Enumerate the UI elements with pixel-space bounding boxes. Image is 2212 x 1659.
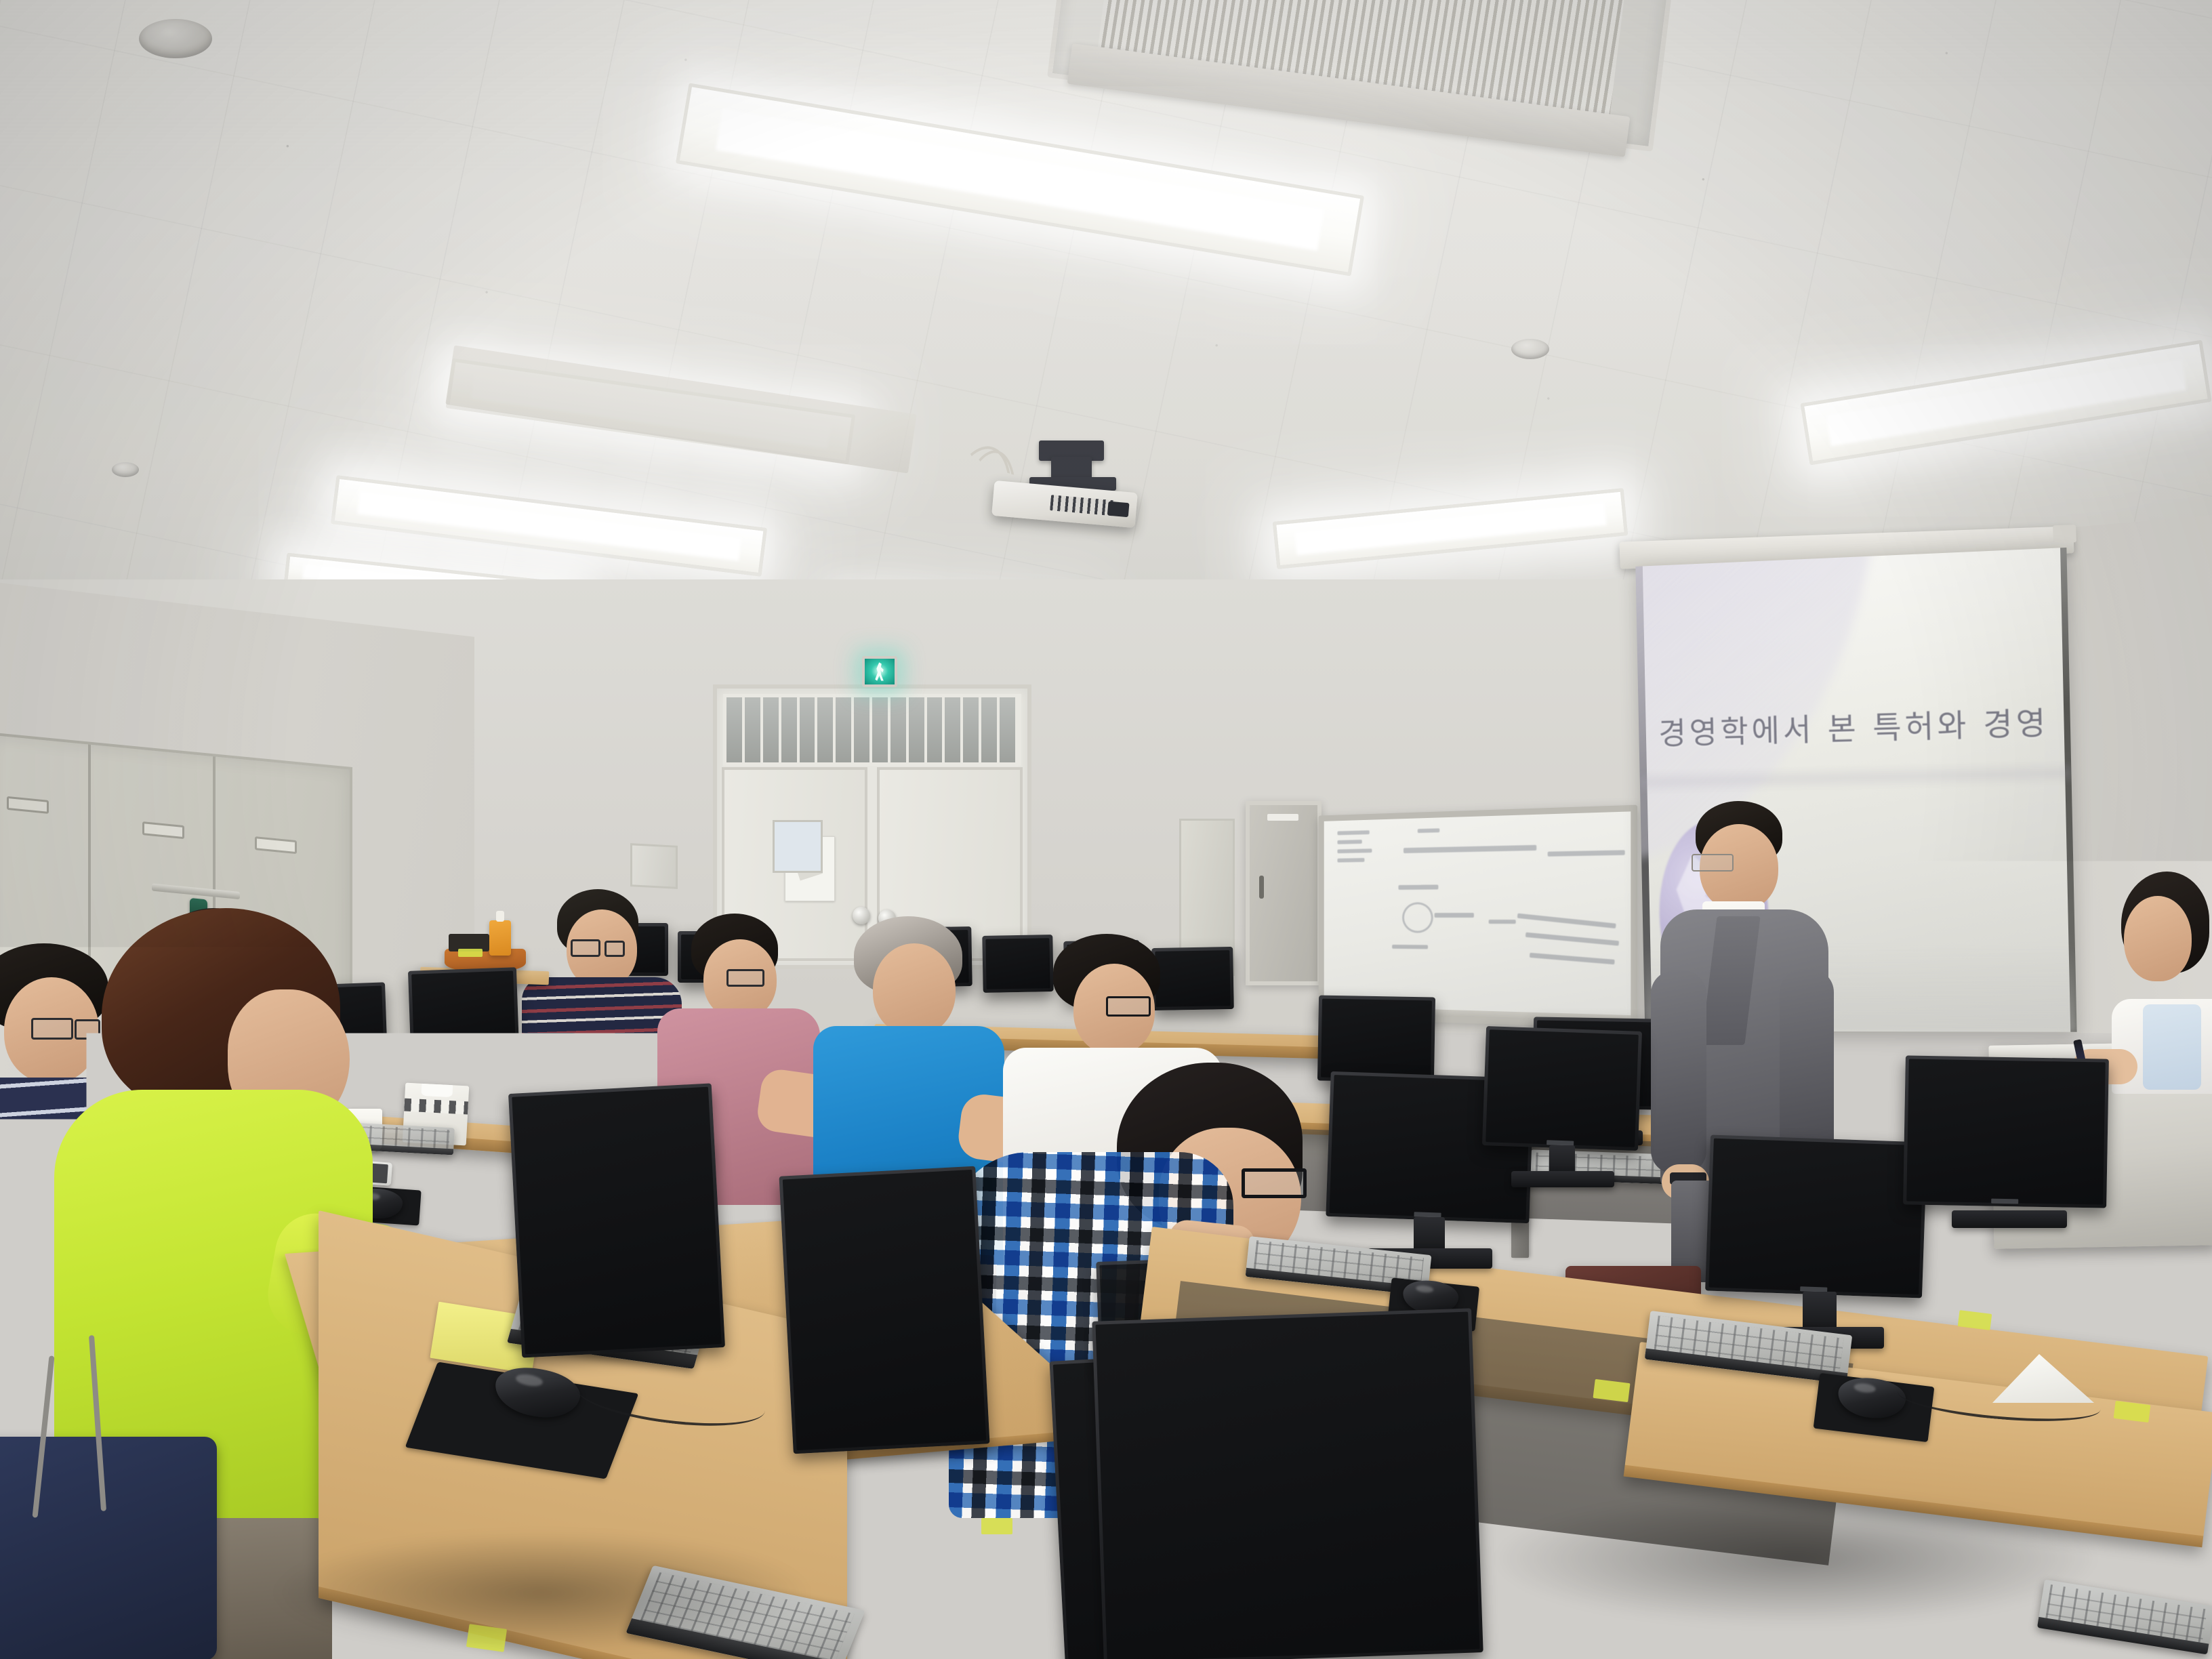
wall-mounted-sign bbox=[773, 820, 823, 873]
orange-bottle bbox=[489, 920, 511, 956]
head bbox=[2124, 896, 2192, 981]
whiteboard-writing bbox=[1392, 945, 1428, 949]
monitor[interactable] bbox=[408, 967, 519, 1052]
tissue bbox=[422, 1083, 453, 1097]
head bbox=[873, 943, 956, 1036]
ceiling-projector bbox=[986, 441, 1162, 529]
smoke-detector bbox=[112, 462, 139, 477]
monitor[interactable] bbox=[1092, 1308, 1483, 1659]
cabinet-handle[interactable] bbox=[255, 836, 297, 854]
whiteboard-writing bbox=[1337, 858, 1364, 863]
eyeglasses bbox=[31, 1018, 73, 1040]
classroom-photo: 경영학에서 본 특허와 경영 bbox=[0, 0, 2212, 1659]
monitor[interactable] bbox=[1903, 1055, 2109, 1208]
monitor[interactable] bbox=[982, 935, 1053, 993]
whiteboard-writing bbox=[1435, 913, 1474, 918]
transom-window bbox=[723, 694, 1021, 766]
eyeglasses bbox=[571, 939, 600, 957]
eyeglasses bbox=[726, 969, 764, 987]
monitor[interactable] bbox=[1705, 1134, 1927, 1298]
monitor-stand bbox=[1803, 1292, 1837, 1331]
whiteboard-writing bbox=[1525, 933, 1619, 946]
panel-handle[interactable] bbox=[1259, 876, 1264, 899]
inner-top bbox=[2143, 1004, 2201, 1090]
exit-sign bbox=[862, 656, 897, 687]
eyeglasses bbox=[75, 1019, 100, 1040]
whiteboard-writing bbox=[1337, 840, 1361, 844]
projector-lens bbox=[1107, 501, 1130, 518]
whiteboard-writing bbox=[1337, 830, 1369, 835]
monitor[interactable] bbox=[1151, 947, 1234, 1010]
whiteboard-writing bbox=[1398, 884, 1438, 889]
tissue-box-pattern bbox=[404, 1098, 468, 1114]
shadow bbox=[1491, 1491, 2101, 1626]
whiteboard-writing bbox=[1517, 914, 1616, 928]
electrical-panel[interactable] bbox=[1246, 801, 1322, 985]
monitor-stand bbox=[1414, 1217, 1445, 1252]
whiteboard-writing bbox=[1548, 850, 1625, 856]
desk-label bbox=[458, 949, 483, 957]
whiteboard-writing bbox=[1337, 848, 1372, 853]
projector-vent bbox=[1050, 495, 1115, 516]
cabinet-handle[interactable] bbox=[7, 796, 49, 814]
monitor[interactable] bbox=[508, 1083, 725, 1357]
eyeglasses bbox=[1242, 1168, 1307, 1198]
monitor[interactable] bbox=[1317, 996, 1435, 1083]
whiteboard-writing bbox=[1404, 845, 1536, 853]
monitor[interactable] bbox=[779, 1166, 989, 1454]
whiteboard-writing bbox=[1530, 953, 1615, 964]
whiteboard-writing bbox=[1489, 920, 1516, 924]
projector-mount-arm bbox=[1051, 457, 1092, 480]
cabinet-hasp bbox=[152, 883, 240, 899]
panel-label bbox=[1267, 814, 1298, 821]
cabinet-handle[interactable] bbox=[142, 821, 184, 839]
door-knob[interactable] bbox=[853, 907, 870, 924]
chair[interactable] bbox=[0, 1437, 217, 1659]
smoke-detector bbox=[1511, 339, 1549, 359]
whiteboard-writing bbox=[1418, 828, 1440, 833]
monitor[interactable] bbox=[1482, 1026, 1642, 1151]
shadow bbox=[271, 1532, 813, 1654]
monitor-base bbox=[1952, 1210, 2067, 1228]
asset-label bbox=[981, 1518, 1012, 1534]
arm bbox=[1651, 970, 1706, 1174]
screen-housing-cap bbox=[2053, 525, 2076, 543]
eyeglasses bbox=[1692, 854, 1734, 872]
eyeglasses bbox=[1106, 996, 1151, 1017]
wall-mounted-box bbox=[630, 843, 678, 889]
ceiling-speaker bbox=[139, 19, 212, 58]
eyeglasses bbox=[605, 941, 625, 957]
monitor-base bbox=[1511, 1171, 1614, 1187]
whiteboard-diagram bbox=[1402, 902, 1433, 933]
